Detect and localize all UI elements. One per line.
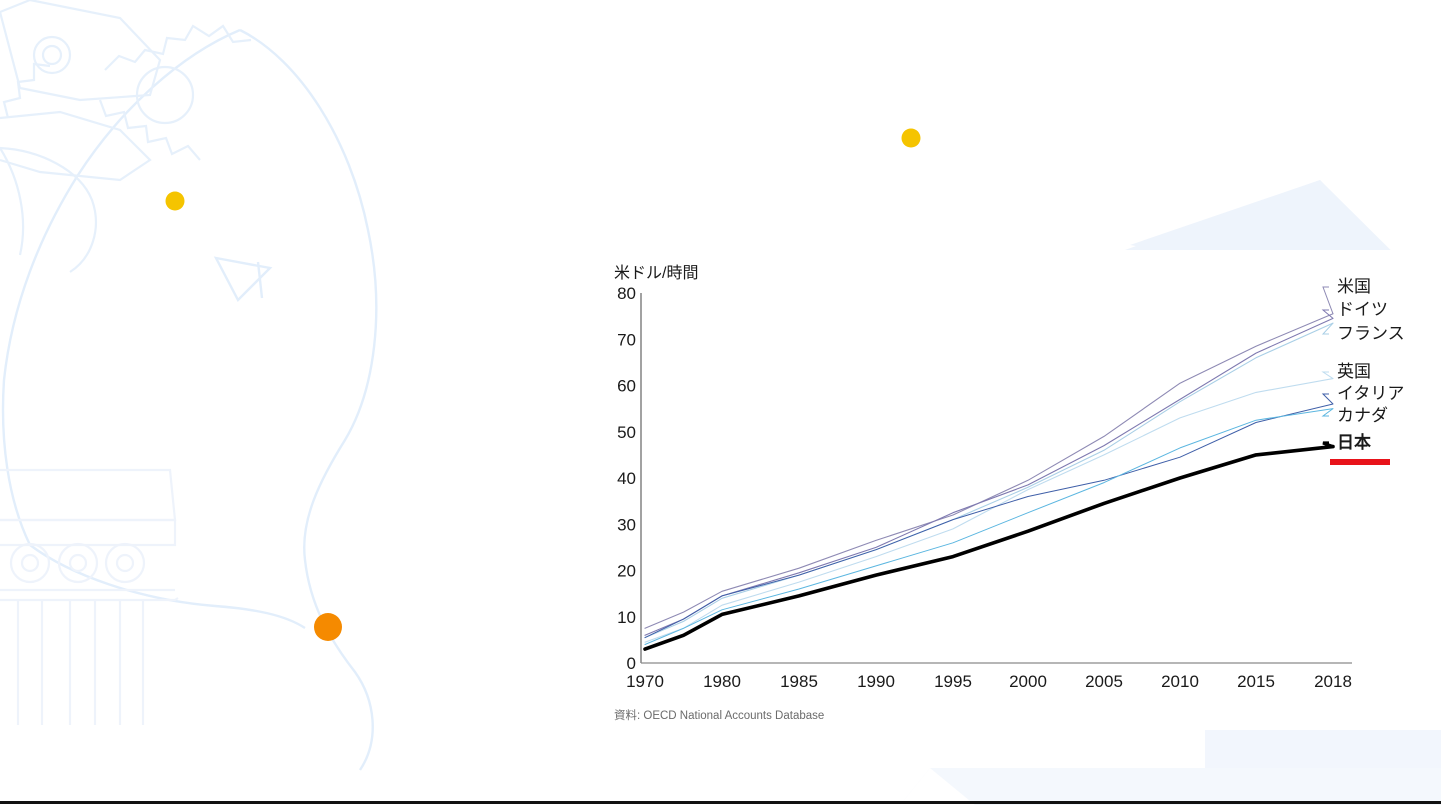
yellow-dot-top bbox=[902, 129, 921, 148]
decorative-dots bbox=[0, 0, 1441, 811]
orange-dot-left bbox=[314, 613, 342, 641]
yellow-dot-left bbox=[166, 192, 185, 211]
bottom-rule bbox=[0, 801, 1441, 804]
